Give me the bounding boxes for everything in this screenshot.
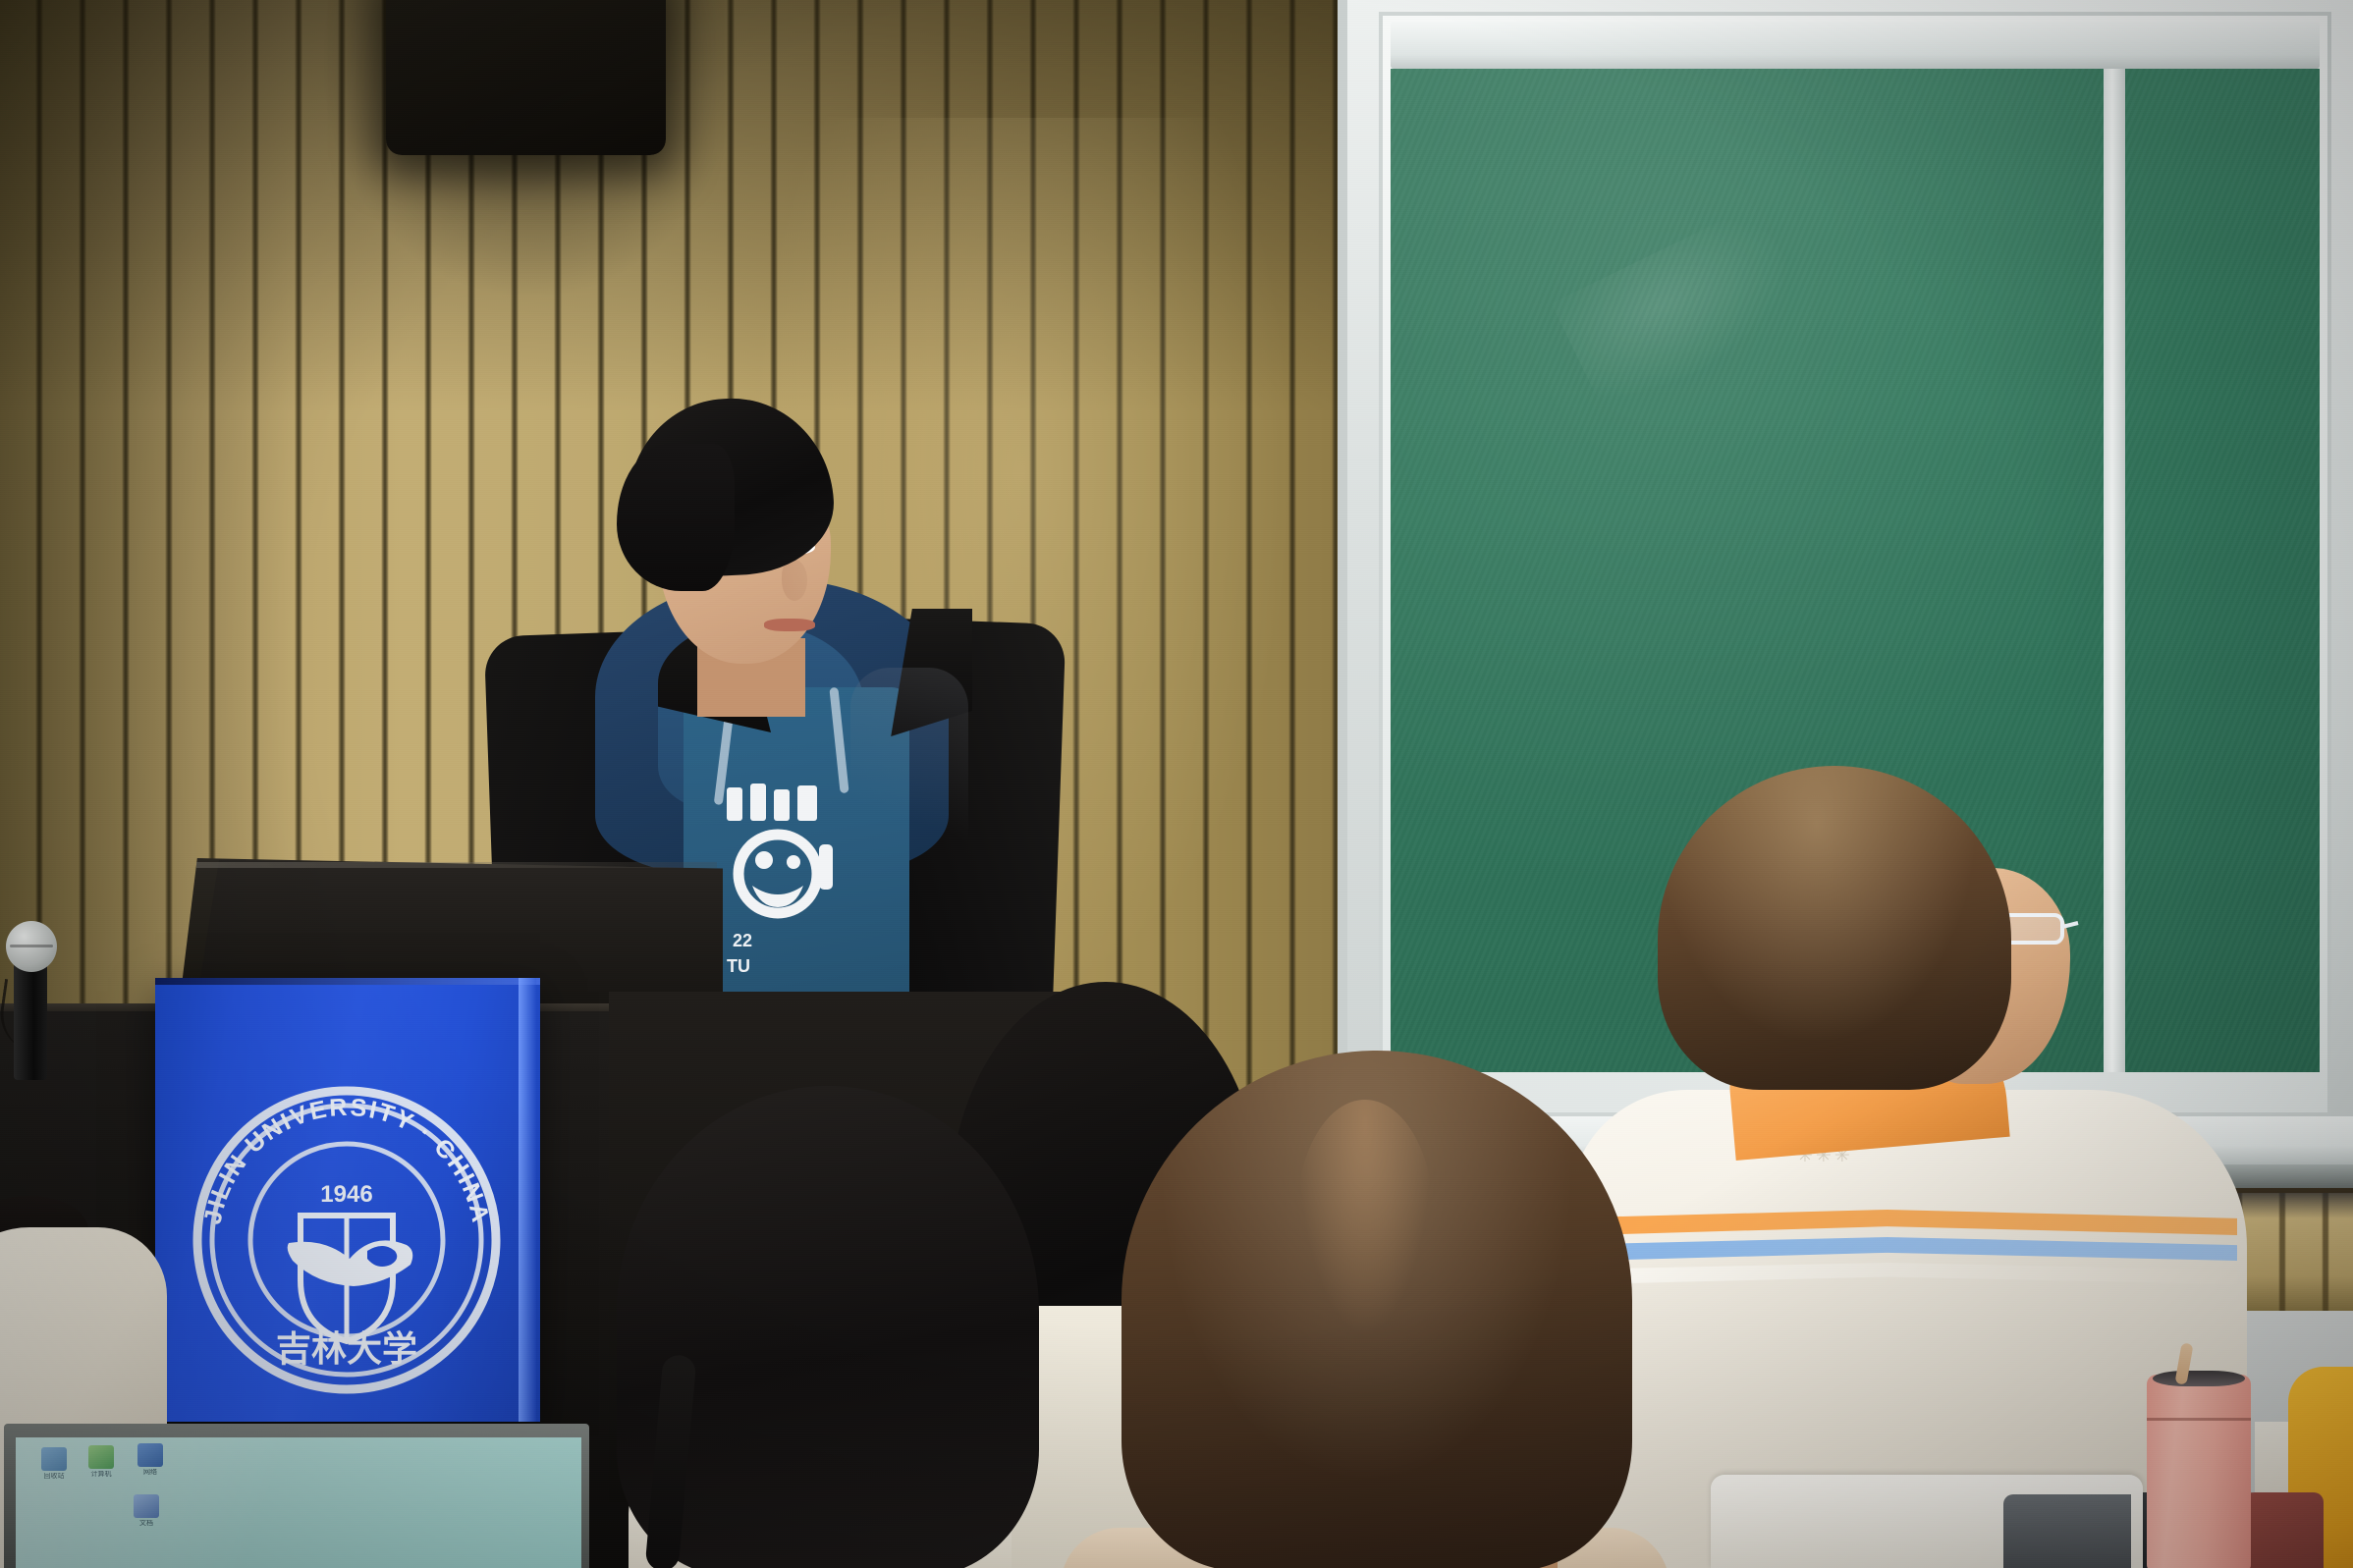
monitor-bezel-highlight [196, 862, 717, 868]
hair-part-highlight [1296, 1100, 1434, 1335]
microphone-icon[interactable] [6, 921, 57, 972]
university-seal: JILIN UNIVERSITY · CHINA 1946 吉林大学 [185, 1078, 509, 1402]
chalkboard-top-rail [1391, 22, 2320, 69]
presenter-mouth [764, 619, 815, 631]
audience-glasses-hair [1658, 766, 2011, 1090]
jacket-sheen [850, 668, 968, 893]
lecture-hall-photo: 22 TU [0, 0, 2353, 1568]
network-icon[interactable]: 网络 [136, 1443, 165, 1477]
wall-speaker-icon [386, 0, 666, 155]
folder-icon[interactable]: 文档 [132, 1494, 161, 1528]
microphone-stand[interactable] [14, 962, 47, 1080]
recycle-bin-glyph [41, 1447, 67, 1471]
grey-object [2003, 1494, 2131, 1568]
computer-label: 计算机 [86, 1471, 116, 1479]
computer-icon[interactable]: 计算机 [86, 1445, 116, 1479]
recycle-bin-icon[interactable]: 回收站 [39, 1447, 69, 1481]
podium-panel-top-edge [155, 978, 540, 985]
desktop-screen[interactable]: 回收站 计算机 网络 文档 [16, 1437, 581, 1568]
network-label: 网络 [136, 1469, 165, 1477]
svg-text:TU: TU [727, 956, 750, 976]
thermos-rim [2153, 1371, 2245, 1386]
podium-panel-highlight [519, 978, 536, 1422]
presenter-nose [782, 560, 807, 601]
presenter-hair-side [617, 444, 735, 591]
network-glyph [137, 1443, 163, 1467]
folder-glyph [134, 1494, 159, 1518]
seal-chinese-name: 吉林大学 [276, 1328, 417, 1369]
svg-text:22: 22 [733, 931, 752, 950]
seal-year: 1946 [320, 1181, 372, 1208]
recycle-bin-label: 回收站 [39, 1473, 69, 1481]
chalk-smudge [1552, 200, 1820, 418]
folder-label: 文档 [132, 1520, 161, 1528]
computer-glyph [88, 1445, 114, 1469]
